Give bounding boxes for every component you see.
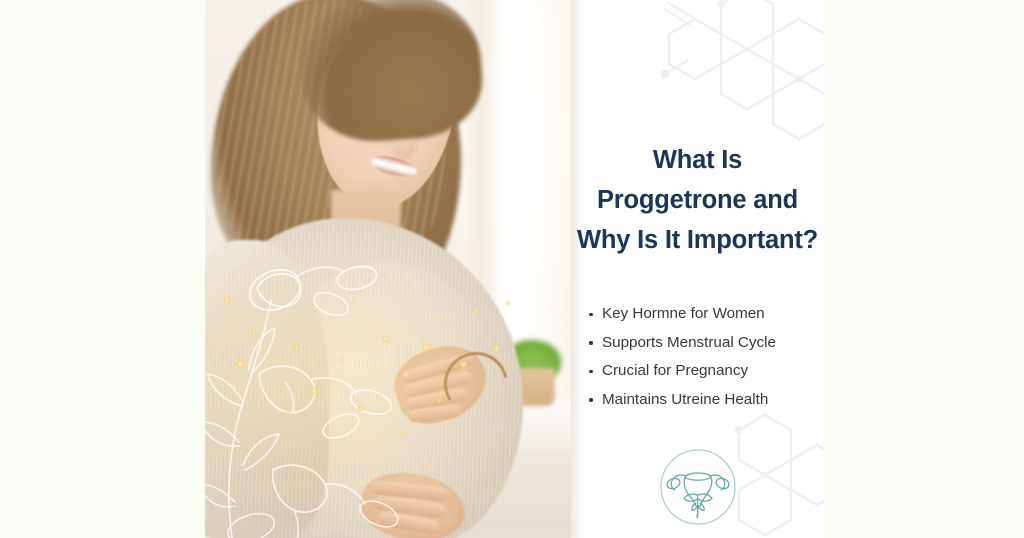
- benefit-list: Key Hormne for Women Supports Menstrual …: [585, 300, 824, 414]
- list-item: Crucial for Pregnancy: [585, 357, 824, 386]
- panel-left-edge: [571, 0, 581, 538]
- letterbox-right: [824, 0, 1024, 538]
- letterbox-left: [0, 0, 205, 538]
- list-item: Supports Menstrual Cycle: [585, 329, 824, 358]
- infographic-card: What Is Proggetrone and Why Is It Import…: [205, 0, 824, 538]
- page-title: What Is Proggetrone and Why Is It Import…: [571, 140, 824, 260]
- uterus-icon: [659, 448, 737, 526]
- title-line-1: What Is: [571, 140, 824, 180]
- list-item: Key Hormne for Women: [585, 300, 824, 329]
- hero-photo: [205, 0, 571, 538]
- content-panel: What Is Proggetrone and Why Is It Import…: [571, 0, 824, 538]
- title-line-2: Proggetrone and: [571, 180, 824, 220]
- botanical-line-art: [205, 256, 429, 538]
- title-line-3: Why Is It Important?: [571, 220, 824, 260]
- hair-front: [296, 0, 486, 146]
- infographic-canvas: What Is Proggetrone and Why Is It Import…: [0, 0, 1024, 538]
- list-item: Maintains Utreine Health: [585, 386, 824, 415]
